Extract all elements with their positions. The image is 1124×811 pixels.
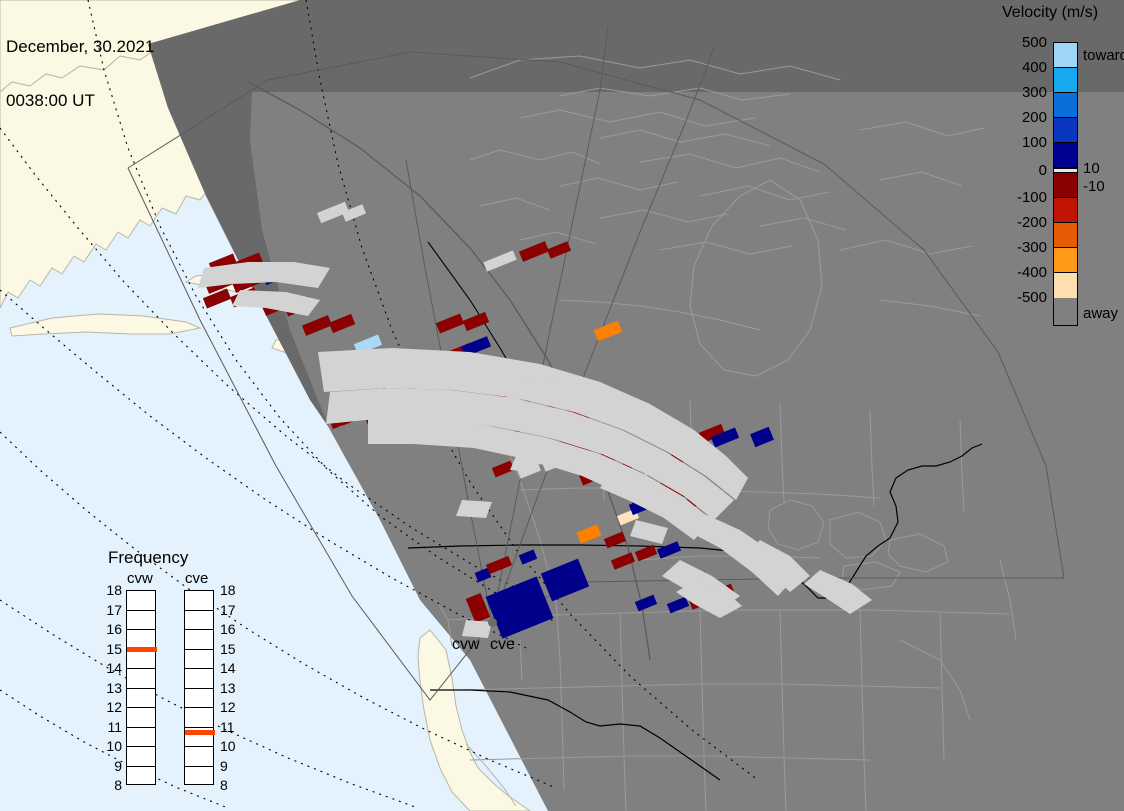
frequency-legend-title: Frequency [108,548,188,568]
colorbar-threshold-negative: -10 [1083,179,1105,194]
frequency-bar-cell [127,689,155,709]
frequency-column-label-cve: cve [185,570,208,587]
frequency-bar-cell [127,669,155,689]
frequency-bar-cell [185,708,213,728]
frequency-tick-cvw-13: 13 [100,681,122,695]
frequency-tick-cvw-15: 15 [100,642,122,656]
frequency-marker-cvw [127,647,157,652]
frequency-tick-cvw-16: 16 [100,622,122,636]
frequency-tick-cve-17: 17 [220,603,236,617]
colorbar-tick--400: -400 [995,265,1047,280]
colorbar-segment-toward-1 [1054,68,1077,93]
frequency-bar-cvw [126,590,156,785]
frequency-tick-cve-15: 15 [220,642,236,656]
radar-site-marker [488,618,497,627]
colorbar-segment-toward-0 [1054,43,1077,68]
frequency-tick-cvw-17: 17 [100,603,122,617]
colorbar-label-toward: toward [1083,48,1124,63]
frequency-tick-cve-12: 12 [220,700,236,714]
colorbar-threshold-positive: 10 [1083,161,1100,176]
frequency-tick-cve-16: 16 [220,622,236,636]
frequency-tick-cve-14: 14 [220,661,236,675]
colorbar-segment-away-3 [1054,248,1077,273]
frequency-tick-cve-13: 13 [220,681,236,695]
colorbar-segment-away-2 [1054,223,1077,248]
colorbar-tick--300: -300 [995,240,1047,255]
colorbar-tick-100: 100 [995,135,1047,150]
radar-site-label-cve: cve [490,636,515,654]
frequency-bar-cell [127,650,155,670]
frequency-tick-cve-18: 18 [220,583,236,597]
frequency-bar-cell [127,747,155,767]
ground-scatter-layer [0,0,1124,811]
frequency-bar-cell [127,591,155,611]
colorbar-segment-away-0 [1054,173,1077,198]
timestamp-date: December, 30.2021 [6,38,154,56]
frequency-bar-cell [127,767,155,787]
colorbar-tick--500: -500 [995,290,1047,305]
frequency-tick-cvw-14: 14 [100,661,122,675]
colorbar-tick-0: 0 [995,163,1047,178]
frequency-tick-cvw-10: 10 [100,739,122,753]
frequency-bar-cell [185,611,213,631]
timestamp-block: December, 30.2021 0038:00 UT [6,2,154,146]
frequency-tick-cvw-18: 18 [100,583,122,597]
colorbar-segment-toward-3 [1054,118,1077,143]
frequency-bar-cell [185,767,213,787]
colorbar-label-away: away [1083,306,1118,321]
frequency-tick-cve-8: 8 [220,778,228,792]
frequency-tick-cvw-12: 12 [100,700,122,714]
frequency-bar-cell [185,747,213,767]
frequency-tick-cve-10: 10 [220,739,236,753]
frequency-tick-cvw-9: 9 [100,759,122,773]
frequency-tick-cvw-8: 8 [100,778,122,792]
frequency-bar-cell [127,708,155,728]
colorbar-tick--100: -100 [995,190,1047,205]
radar-fan-plot: December, 30.2021 0038:00 UT Velocity (m… [0,0,1124,811]
ground-scatter-patch [198,262,872,638]
timestamp-time: 0038:00 UT [6,92,154,110]
frequency-marker-cve [185,730,215,735]
colorbar-tick-400: 400 [995,60,1047,75]
colorbar-segment-away-1 [1054,198,1077,223]
frequency-tick-cve-9: 9 [220,759,228,773]
frequency-bar-cell [127,728,155,748]
colorbar-title: Velocity (m/s) [1002,4,1124,22]
frequency-bar-cell [185,689,213,709]
colorbar-segment-toward-4 [1054,143,1077,168]
colorbar-tick--200: -200 [995,215,1047,230]
frequency-bar-cell [185,669,213,689]
colorbar-segment-toward-2 [1054,93,1077,118]
radar-site-label-cvw: cvw [452,636,480,654]
colorbar-segment-away-4 [1054,273,1077,298]
frequency-tick-cve-11: 11 [220,720,235,734]
frequency-bar-cell [185,630,213,650]
frequency-bar-cell [185,591,213,611]
frequency-bar-cve [184,590,214,785]
frequency-bar-cell [185,650,213,670]
frequency-bar-cell [127,611,155,631]
colorbar-gradient-strip [1053,42,1078,326]
colorbar-tick-200: 200 [995,110,1047,125]
colorbar-tick-300: 300 [995,85,1047,100]
colorbar-tick-500: 500 [995,35,1047,50]
frequency-column-label-cvw: cvw [127,570,153,587]
frequency-tick-cvw-11: 11 [100,720,122,734]
